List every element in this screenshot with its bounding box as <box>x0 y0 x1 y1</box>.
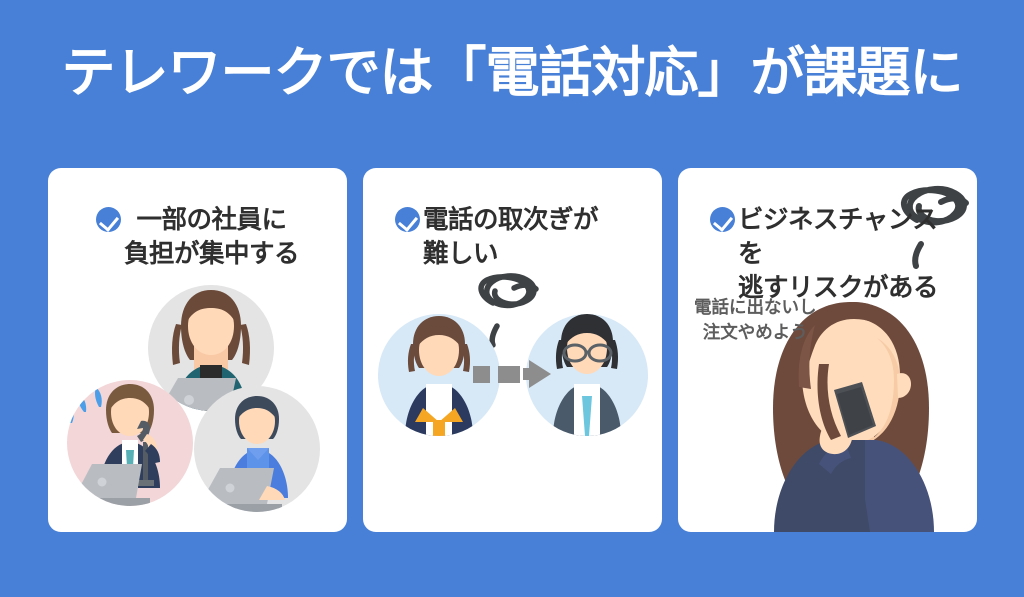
check-circle-icon <box>96 207 121 232</box>
card-burden-header: 一部の社員に 負担が集中する <box>48 204 347 272</box>
card-burden-title: 一部の社員に 負担が集中する <box>124 204 299 272</box>
card-risk[interactable]: 電話に出ないし 注文やめよう ビジネスチャンスを 逃すリスクがある <box>678 168 977 532</box>
card-risk-subtext: 電話に出ないし 注文やめよう <box>694 295 817 346</box>
check-circle-icon <box>710 207 735 232</box>
card-transfer-title: 電話の取次ぎが 難しい <box>423 204 598 272</box>
frustration-scribble <box>481 276 536 345</box>
card-transfer[interactable]: 電話の取次ぎが 難しい <box>363 168 662 532</box>
card-transfer-header: 電話の取次ぎが 難しい <box>363 204 662 272</box>
check-circle-icon <box>395 207 420 232</box>
card-risk-title: ビジネスチャンスを 逃すリスクがある <box>738 204 959 306</box>
card-burden[interactable]: 一部の社員に 負担が集中する <box>48 168 347 532</box>
page-title: テレワークでは「電話対応」が課題に <box>0 44 1024 103</box>
card-row: 一部の社員に 負担が集中する <box>48 168 976 532</box>
card-risk-header: ビジネスチャンスを 逃すリスクがある <box>678 204 977 306</box>
